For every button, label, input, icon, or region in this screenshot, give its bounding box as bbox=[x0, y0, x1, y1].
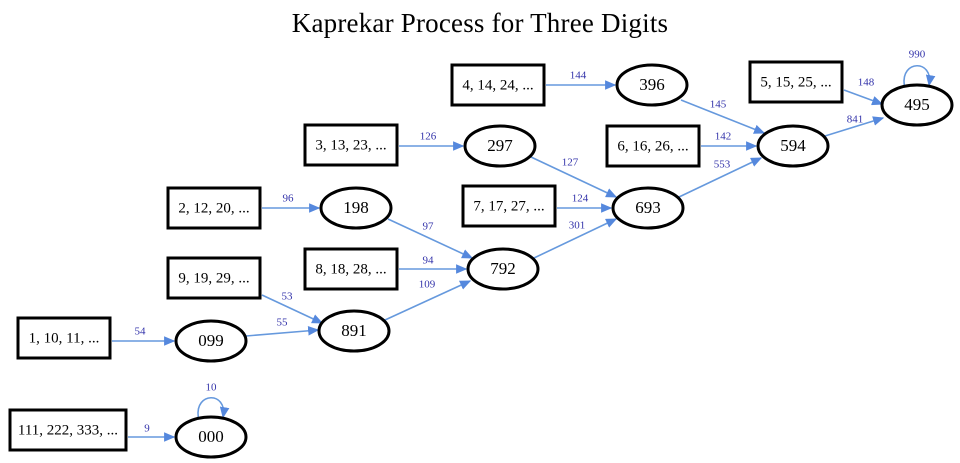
node-box-b111[interactable]: 111, 222, 333, ... bbox=[10, 410, 126, 450]
edge-label-n099-to-n891: 55 bbox=[277, 317, 289, 329]
node-box-b9[interactable]: 9, 19, 29, ... bbox=[168, 258, 260, 298]
kaprekar-graph: 99010 4, 14, 24, ...3, 13, 23, ...5, 15,… bbox=[0, 0, 960, 463]
self-loop-n000 bbox=[198, 398, 224, 417]
node-box-label-b111: 111, 222, 333, ... bbox=[18, 422, 118, 438]
edge-label-b6-to-n594: 142 bbox=[715, 131, 732, 143]
edge-label-b4-to-n396: 144 bbox=[570, 70, 587, 82]
self-loop-label-n495: 990 bbox=[909, 49, 926, 61]
node-box-b5[interactable]: 5, 15, 25, ... bbox=[750, 62, 842, 102]
node-box-b1[interactable]: 1, 10, 11, ... bbox=[18, 318, 110, 358]
edge-label-n594-to-n495: 841 bbox=[847, 114, 864, 126]
edge-label-b2-to-n198: 96 bbox=[283, 193, 295, 205]
node-ellipse-n891[interactable]: 891 bbox=[319, 311, 389, 351]
edge-label-b7-to-n693: 124 bbox=[572, 193, 589, 205]
edge-label-b8-to-n792: 94 bbox=[423, 255, 435, 267]
node-ellipse-n495[interactable]: 495 bbox=[882, 85, 952, 125]
edge-label-b3-to-n297: 126 bbox=[420, 131, 437, 143]
edge-b5-to-n495 bbox=[844, 90, 882, 104]
node-ellipse-label-n000: 000 bbox=[198, 427, 224, 446]
edge-label-b1-to-n099: 54 bbox=[135, 326, 147, 338]
node-box-label-b7: 7, 17, 27, ... bbox=[473, 198, 544, 214]
edge-label-n792-to-n693: 301 bbox=[569, 220, 586, 232]
node-ellipse-n000[interactable]: 000 bbox=[176, 417, 246, 457]
ellipses-layer: 396495297594198693792891099000 bbox=[176, 65, 952, 457]
node-box-label-b4: 4, 14, 24, ... bbox=[462, 77, 533, 93]
node-box-label-b8: 8, 18, 28, ... bbox=[315, 261, 386, 277]
node-ellipse-label-n099: 099 bbox=[198, 331, 224, 350]
node-box-b2[interactable]: 2, 12, 20, ... bbox=[168, 188, 260, 228]
node-ellipse-n297[interactable]: 297 bbox=[465, 126, 535, 166]
node-box-b7[interactable]: 7, 17, 27, ... bbox=[463, 186, 555, 226]
node-ellipse-label-n198: 198 bbox=[343, 198, 369, 217]
node-box-b6[interactable]: 6, 16, 26, ... bbox=[607, 126, 699, 166]
node-box-b4[interactable]: 4, 14, 24, ... bbox=[452, 65, 544, 105]
node-box-label-b5: 5, 15, 25, ... bbox=[760, 74, 831, 90]
edge-label-n198-to-n792: 97 bbox=[423, 221, 435, 233]
node-ellipse-label-n891: 891 bbox=[341, 321, 367, 340]
edge-label-n396-to-n594: 145 bbox=[710, 99, 727, 111]
node-ellipse-label-n495: 495 bbox=[904, 95, 930, 114]
node-ellipse-n792[interactable]: 792 bbox=[468, 249, 538, 289]
edge-n099-to-n891 bbox=[246, 330, 318, 336]
self-loop-label-n000: 10 bbox=[206, 382, 218, 394]
node-ellipse-n693[interactable]: 693 bbox=[613, 188, 683, 228]
node-box-b8[interactable]: 8, 18, 28, ... bbox=[305, 249, 397, 289]
node-box-label-b1: 1, 10, 11, ... bbox=[29, 330, 100, 346]
node-box-b3[interactable]: 3, 13, 23, ... bbox=[305, 125, 397, 165]
node-ellipse-n594[interactable]: 594 bbox=[758, 126, 828, 166]
node-ellipse-label-n594: 594 bbox=[780, 136, 806, 155]
node-box-label-b3: 3, 13, 23, ... bbox=[315, 137, 386, 153]
node-ellipse-n099[interactable]: 099 bbox=[176, 321, 246, 361]
node-ellipse-label-n693: 693 bbox=[635, 198, 661, 217]
diagram-page: Kaprekar Process for Three Digits 99010 … bbox=[0, 0, 960, 463]
edge-label-n693-to-n594: 553 bbox=[714, 159, 731, 171]
edge-label-b111-to-n000: 9 bbox=[144, 423, 150, 435]
node-ellipse-label-n297: 297 bbox=[487, 136, 513, 155]
node-ellipse-n396[interactable]: 396 bbox=[617, 65, 687, 105]
node-box-label-b2: 2, 12, 20, ... bbox=[178, 200, 249, 216]
node-ellipse-label-n396: 396 bbox=[639, 75, 665, 94]
edge-label-b5-to-n495: 148 bbox=[858, 77, 875, 89]
self-loops-layer: 99010 bbox=[198, 49, 930, 417]
edge-label-n297-to-n693: 127 bbox=[562, 157, 579, 169]
node-box-label-b9: 9, 19, 29, ... bbox=[178, 270, 249, 286]
node-box-label-b6: 6, 16, 26, ... bbox=[617, 138, 688, 154]
self-loop-n495 bbox=[904, 66, 930, 85]
edge-label-b9-to-n891: 53 bbox=[282, 291, 294, 303]
node-ellipse-n198[interactable]: 198 bbox=[321, 188, 391, 228]
node-ellipse-label-n792: 792 bbox=[490, 259, 516, 278]
edge-label-n891-to-n792: 109 bbox=[419, 279, 436, 291]
